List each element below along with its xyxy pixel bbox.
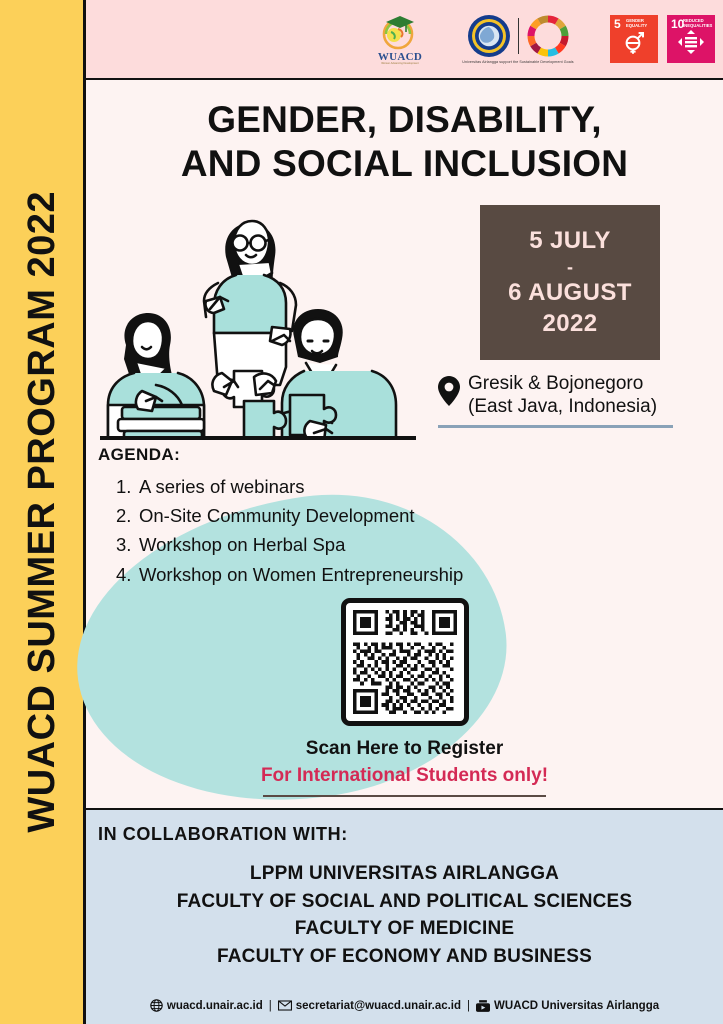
date-box: 5 JULY - 6 AUGUST 2022 — [480, 205, 660, 360]
sdg-10-badge: 10 REDUCED INEQUALITIES — [667, 15, 715, 63]
unair-sdg-logo: Universitas Airlangga support the Sustai… — [435, 14, 601, 64]
international-restriction: For International Students only! — [86, 765, 723, 787]
title-line-2: AND SOCIAL INCLUSION — [86, 142, 723, 186]
agenda-item: 2. On-Site Community Development — [98, 501, 618, 530]
youtube-icon — [476, 1000, 490, 1012]
location-block: Gresik & Bojonegoro (East Java, Indonesi… — [438, 372, 688, 428]
scan-label: Scan Here to Register — [86, 738, 723, 760]
unair-logo-row — [467, 14, 570, 58]
footer-separator: | — [467, 1000, 470, 1012]
agenda-item: 4. Workshop on Women Entrepreneurship — [98, 560, 618, 589]
agenda-item-number: 1. — [116, 472, 135, 501]
unair-seal-icon — [467, 14, 511, 58]
youtube-text: WUACD Universitas Airlangga — [494, 1000, 659, 1012]
website-contact[interactable]: wuacd.unair.ac.id — [150, 999, 263, 1012]
sdg-10-label: REDUCED INEQUALITIES — [683, 19, 713, 29]
poster-canvas: WUACD SUMMER PROGRAM 2022 WUACD Women Ad… — [0, 0, 723, 1024]
partner-item: FACULTY OF ECONOMY AND BUSINESS — [86, 943, 723, 971]
location-line-1: Gresik & Bojonegoro — [468, 372, 657, 395]
qr-code-image — [353, 610, 457, 714]
location-line-2: (East Java, Indonesia) — [468, 395, 657, 418]
wuacd-tagline: Women Advancing Development — [381, 63, 419, 66]
footer-separator: | — [269, 1000, 272, 1012]
location-divider — [438, 425, 673, 428]
logo-divider — [518, 18, 519, 54]
website-text: wuacd.unair.ac.id — [167, 1000, 263, 1012]
envelope-icon — [278, 1000, 292, 1011]
agenda-item-text: Workshop on Women Entrepreneurship — [139, 560, 463, 589]
partner-item: LPPM UNIVERSITAS AIRLANGGA — [86, 860, 723, 888]
reduced-inequalities-icon — [667, 29, 715, 60]
title-line-1: GENDER, DISABILITY, — [86, 98, 723, 142]
agenda-item-number: 2. — [116, 501, 135, 530]
people-illustration — [98, 195, 418, 440]
agenda-block: AGENDA: 1. A series of webinars 2. On-Si… — [98, 445, 618, 589]
agenda-item-text: A series of webinars — [139, 472, 305, 501]
sdg-5-label: GENDER EQUALITY — [626, 19, 656, 29]
map-pin-icon — [438, 376, 460, 406]
sidebar-banner: WUACD SUMMER PROGRAM 2022 — [0, 0, 86, 1024]
registration-divider — [263, 795, 546, 797]
collaboration-heading: IN COLLABORATION WITH: — [98, 824, 348, 845]
agenda-item-text: On-Site Community Development — [139, 501, 415, 530]
email-contact[interactable]: secretariat@wuacd.unair.ac.id — [278, 1000, 461, 1012]
agenda-item-number: 4. — [116, 560, 135, 589]
wuacd-wordmark: WUACD — [378, 51, 422, 63]
agenda-item-number: 3. — [116, 530, 135, 559]
wuacd-mark-icon — [380, 13, 420, 51]
location-text: Gresik & Bojonegoro (East Java, Indonesi… — [468, 372, 657, 418]
qr-code[interactable] — [341, 598, 469, 726]
agenda-list: 1. A series of webinars 2. On-Site Commu… — [98, 472, 618, 589]
collaboration-partners: LPPM UNIVERSITAS AIRLANGGA FACULTY OF SO… — [86, 860, 723, 970]
email-text: secretariat@wuacd.unair.ac.id — [296, 1000, 461, 1012]
date-year: 2022 — [543, 309, 598, 339]
footer-contacts: wuacd.unair.ac.id | secretariat@wuacd.un… — [86, 999, 723, 1012]
collaboration-band: IN COLLABORATION WITH: LPPM UNIVERSITAS … — [86, 808, 723, 1024]
date-start: 5 JULY — [529, 226, 611, 256]
agenda-item: 1. A series of webinars — [98, 472, 618, 501]
youtube-contact[interactable]: WUACD Universitas Airlangga — [476, 1000, 659, 1012]
location-row: Gresik & Bojonegoro (East Java, Indonesi… — [438, 372, 688, 418]
partner-item: FACULTY OF MEDICINE — [86, 915, 723, 943]
date-end: 6 AUGUST — [508, 278, 632, 308]
header-logo-band: WUACD Women Advancing Development — [86, 0, 723, 80]
agenda-item-text: Workshop on Herbal Spa — [139, 530, 345, 559]
sdg-5-badge: 5 GENDER EQUALITY — [610, 15, 658, 63]
unair-caption: Universitas Airlangga support the Sustai… — [462, 60, 573, 64]
registration-block: Scan Here to Register For International … — [86, 598, 723, 797]
wuacd-logo: WUACD Women Advancing Development — [374, 13, 426, 66]
sdg-5-number: 5 — [614, 18, 621, 30]
gender-equality-icon — [610, 31, 658, 60]
date-dash: - — [567, 258, 573, 276]
sidebar-vertical-title: WUACD SUMMER PROGRAM 2022 — [23, 191, 61, 833]
sdg-wheel-icon — [526, 14, 570, 58]
partner-item: FACULTY OF SOCIAL AND POLITICAL SCIENCES — [86, 888, 723, 916]
main-column: WUACD Women Advancing Development — [86, 0, 723, 1024]
agenda-heading: AGENDA: — [98, 445, 618, 465]
agenda-item: 3. Workshop on Herbal Spa — [98, 530, 618, 559]
poster-title: GENDER, DISABILITY, AND SOCIAL INCLUSION — [86, 80, 723, 185]
globe-icon — [150, 999, 163, 1012]
